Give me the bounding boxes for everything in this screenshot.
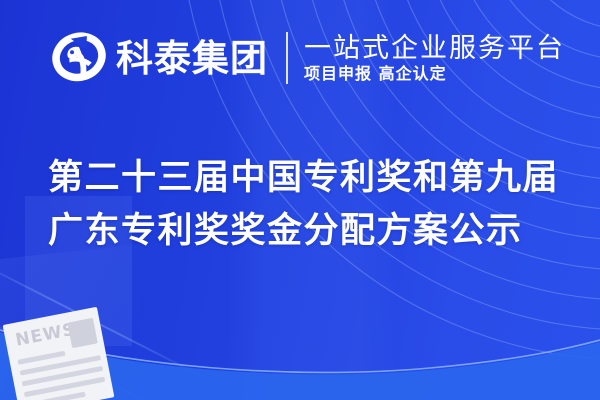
slogan-main-text: 一站式企业服务平台 xyxy=(304,34,565,63)
promo-banner: 科泰集团 一站式企业服务平台 项目申报 高企认定 第二十三届中国专利奖和第九届 … xyxy=(0,0,600,400)
brand-name: 科泰集团 xyxy=(116,40,268,77)
header-divider xyxy=(286,32,288,84)
slogan-block: 一站式企业服务平台 项目申报 高企认定 xyxy=(304,34,565,83)
brand-header: 科泰集团 一站式企业服务平台 项目申报 高企认定 xyxy=(50,26,565,90)
ketai-circle-logo-icon xyxy=(50,29,108,87)
headline-line-1: 第二十三届中国专利奖和第九届 xyxy=(48,152,558,205)
headline-line-2: 广东专利奖奖金分配方案公示 xyxy=(48,205,558,258)
slogan-sub-text: 项目申报 高企认定 xyxy=(304,65,565,83)
headline-block: 第二十三届中国专利奖和第九届 广东专利奖奖金分配方案公示 xyxy=(48,152,558,258)
